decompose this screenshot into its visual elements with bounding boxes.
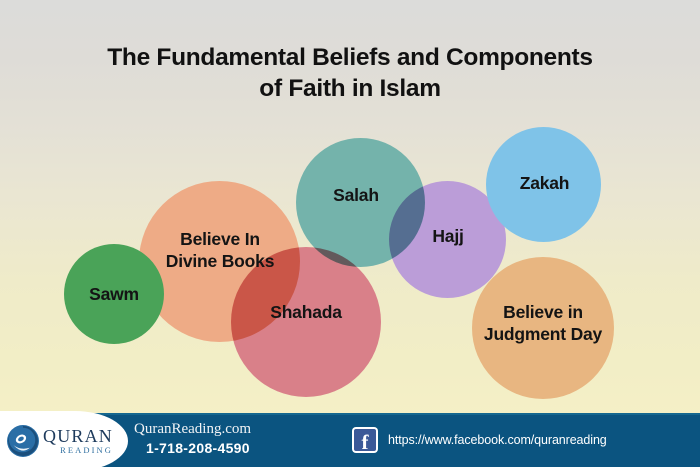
bubble-label-sawm: Sawm [74,283,154,305]
page-title: The Fundamental Beliefs and Components o… [0,42,700,104]
facebook-url-link[interactable]: https://www.facebook.com/quranreading [388,433,607,447]
website-label[interactable]: QuranReading.com [134,420,251,439]
logo-word-reading: READING [43,446,113,455]
facebook-icon-inner: f [354,429,376,451]
quran-reading-swirl-icon [6,424,40,458]
facebook-icon[interactable]: f [352,427,378,453]
bubble-label-divine-books: Believe In Divine Books [155,228,285,272]
footer-bar: QURAN READING QuranReading.com 1-718-208… [0,413,700,467]
logo-wordmark: QURAN READING [43,427,113,455]
bubble-label-shahada: Shahada [246,301,366,323]
bubble-label-judgment-day: Believe in Judgment Day [478,301,608,345]
logo-word-quran: QURAN [43,427,113,445]
infographic-canvas: The Fundamental Beliefs and Components o… [0,0,700,467]
bubble-label-zakah: Zakah [497,172,592,194]
title-line-2: of Faith in Islam [0,73,700,104]
brand-logo[interactable]: QURAN READING [0,411,128,467]
facebook-icon-glyph: f [354,430,376,454]
social-block[interactable]: f https://www.facebook.com/quranreading [352,427,607,453]
bubble-label-hajj: Hajj [398,225,498,247]
bubble-label-salah: Salah [306,184,406,206]
title-line-1: The Fundamental Beliefs and Components [0,42,700,73]
phone-number[interactable]: 1-718-208-4590 [134,439,251,458]
contact-block: QuranReading.com 1-718-208-4590 [134,420,251,458]
